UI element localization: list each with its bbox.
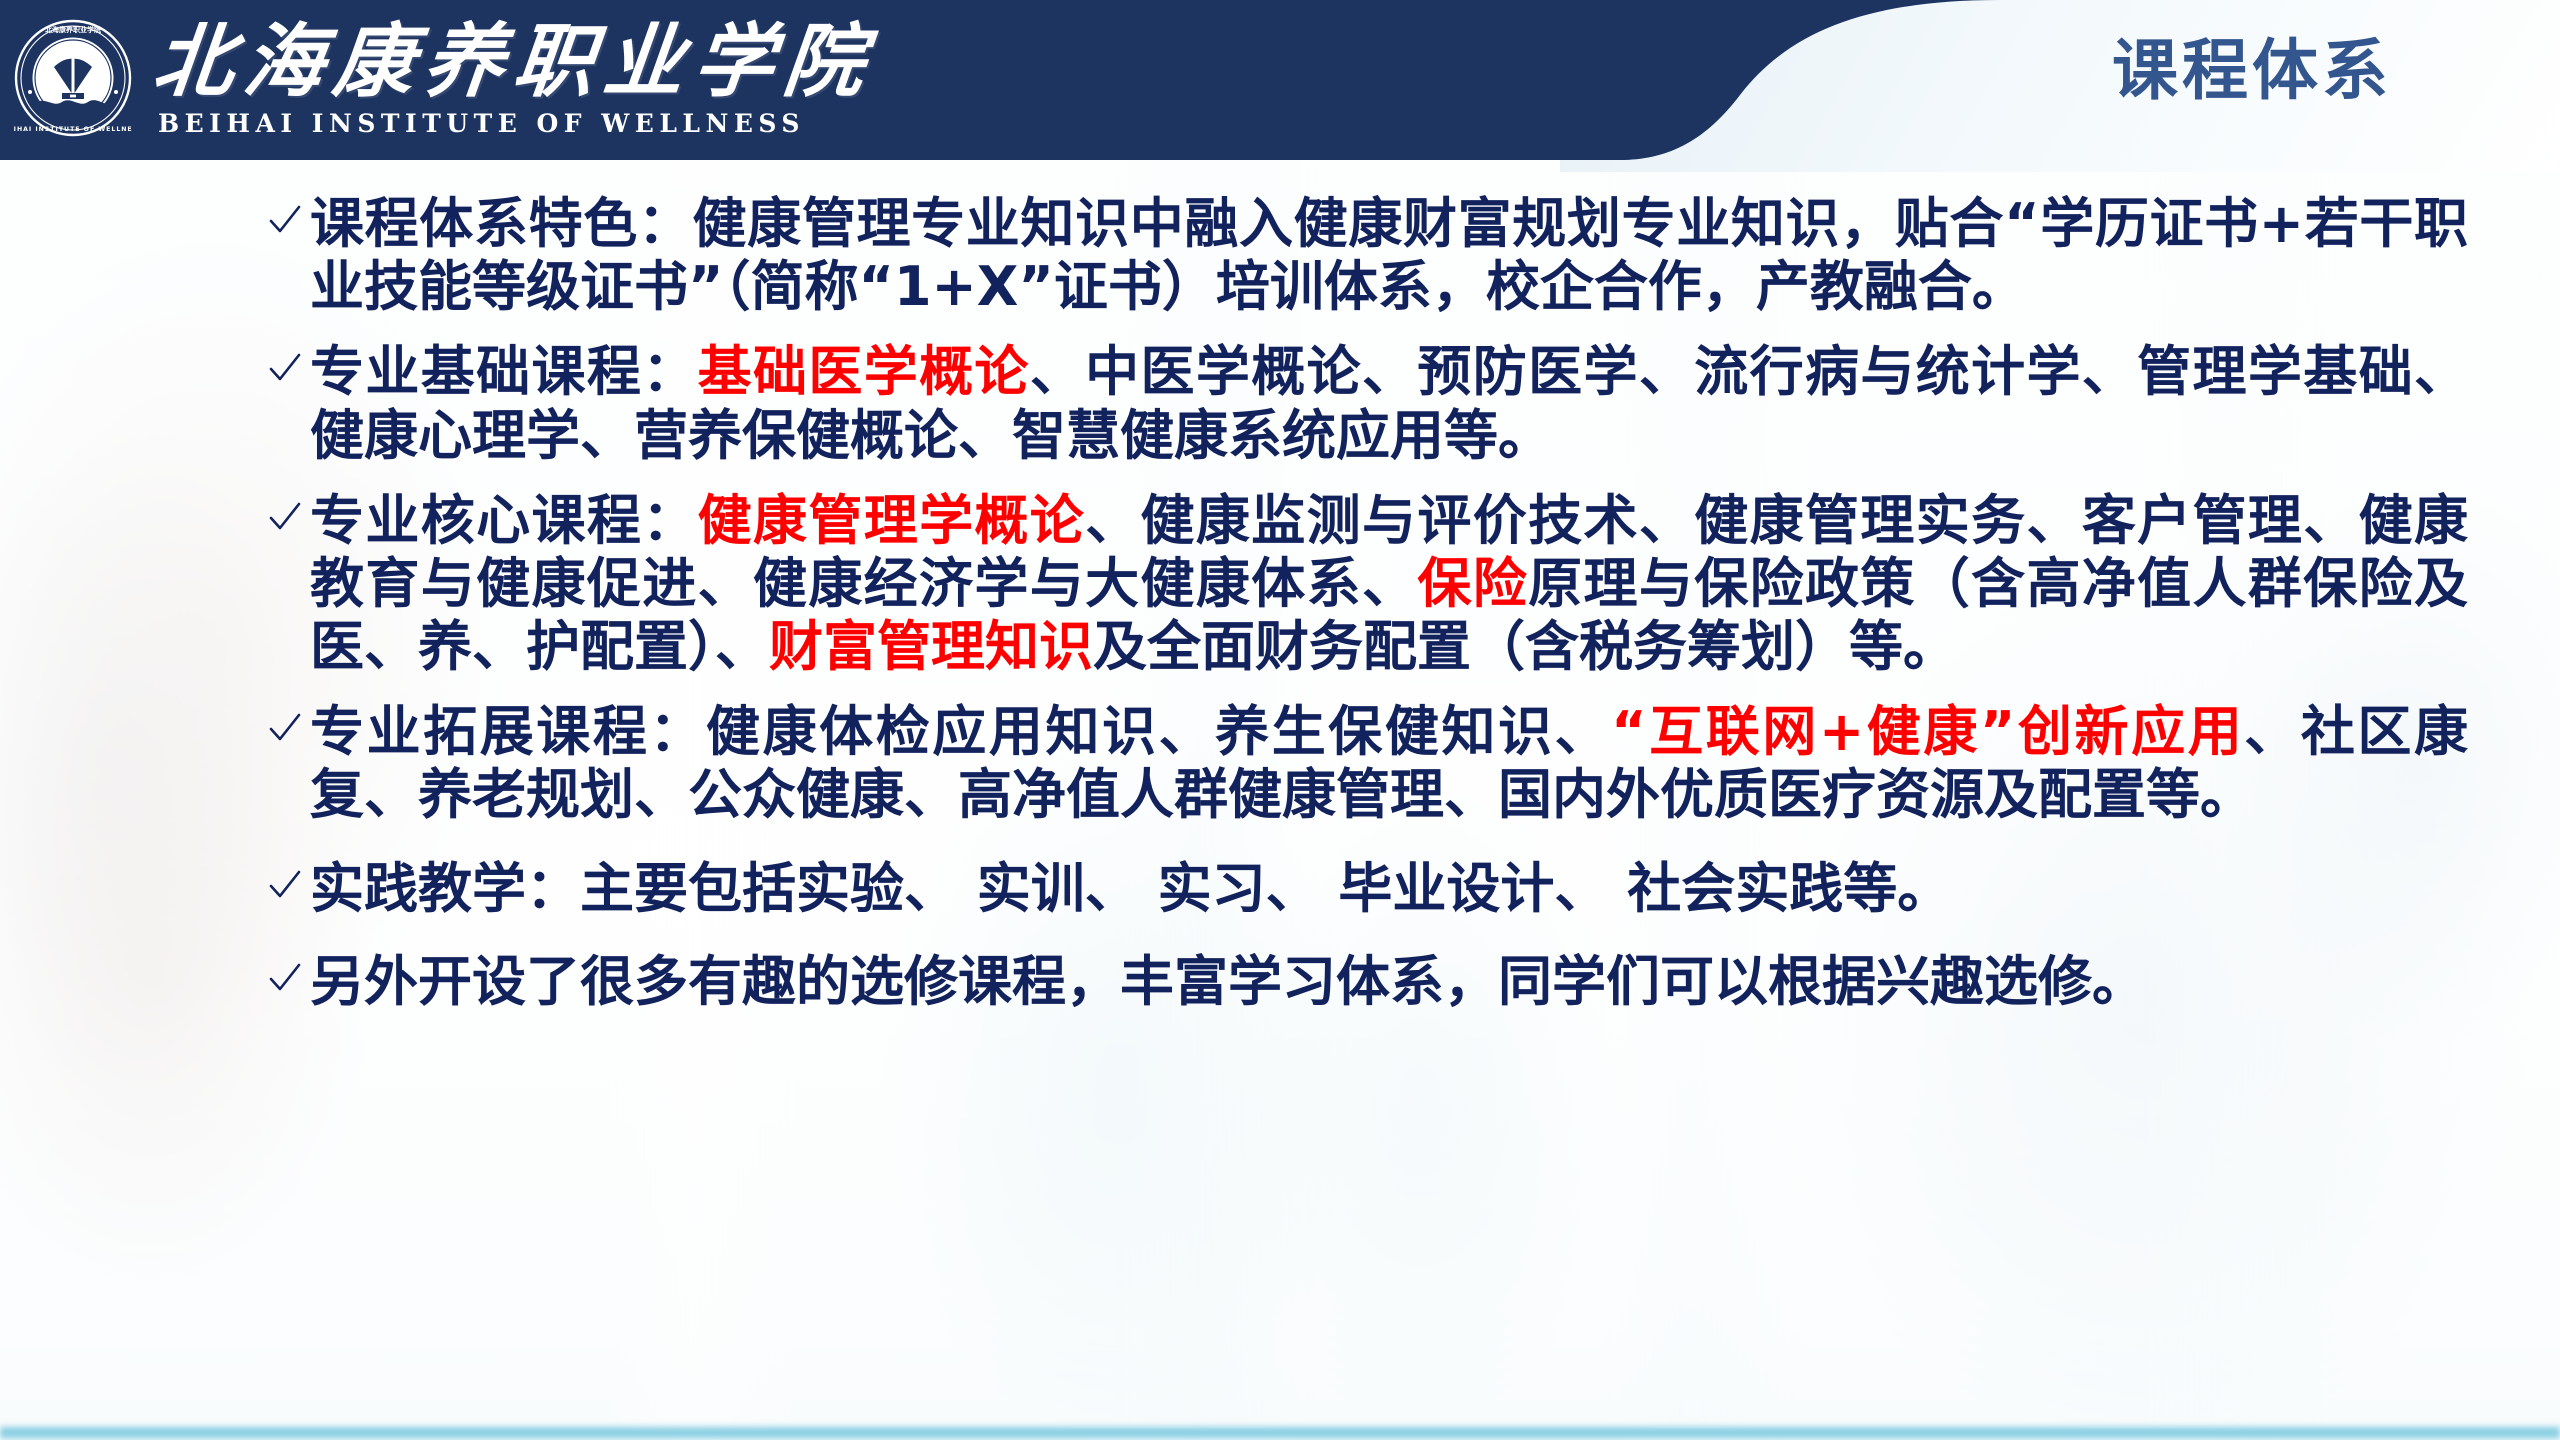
check-icon (268, 962, 310, 996)
bullet-professional-basic-courses: 专业基础课程：基础医学概论、中医学概论、预防医学、流行病与统计学、管理学基础、健… (268, 340, 2468, 466)
check-icon (268, 352, 310, 386)
svg-text:BEIHAI INSTITUTE OF WELLNESS: BEIHAI INSTITUTE OF WELLNESS (14, 126, 132, 133)
institution-name-en: BEIHAI INSTITUTE OF WELLNESS (158, 109, 874, 138)
bottom-accent-line (0, 1424, 2560, 1440)
bullet-text: 课程体系特色：健康管理专业知识中融入健康财富规划专业知识，贴合“学历证书+若干职… (310, 192, 2468, 318)
institution-name-cn: 北海康养职业学院 (150, 21, 878, 101)
bullet-text: 专业核心课程：健康管理学概论、健康监测与评价技术、健康管理实务、客户管理、健康教… (310, 489, 2468, 679)
bullet-text: 另外开设了很多有趣的选修课程，丰富学习体系，同学们可以根据兴趣选修。 (310, 950, 2468, 1013)
bullet-text: 专业拓展课程：健康体检应用知识、养生保健知识、“互联网+健康”创新应用、社区康复… (310, 700, 2468, 826)
plain-text: 专业拓展课程：健康体检应用知识、养生保健知识、 (310, 700, 1611, 763)
bullet-text: 实践教学：主要包括实验、 实训、 实习、 毕业设计、 社会实践等。 (310, 857, 2468, 920)
header: 北海康养职业学院 BEIHAI INSTITUTE OF WELLNESS 北海… (0, 0, 2560, 172)
check-icon (268, 501, 310, 535)
highlighted-text: “互联网+健康”创新应用 (1611, 700, 2244, 763)
plain-text: 实践教学：主要包括实验、 实训、 实习、 毕业设计、 社会实践等。 (310, 857, 1951, 920)
logo-block: 北海康养职业学院 BEIHAI INSTITUTE OF WELLNESS 北海… (14, 8, 874, 148)
highlighted-text: 基础医学概论 (698, 340, 1030, 403)
highlighted-text: 保险 (1417, 552, 1528, 615)
bullet-professional-extension-courses: 专业拓展课程：健康体检应用知识、养生保健知识、“互联网+健康”创新应用、社区康复… (268, 700, 2468, 826)
svg-text:北海康养职业学院: 北海康养职业学院 (45, 25, 101, 34)
bullet-elective-courses: 另外开设了很多有趣的选修课程，丰富学习体系，同学们可以根据兴趣选修。 (268, 950, 2468, 1013)
bullet-professional-core-courses: 专业核心课程：健康管理学概论、健康监测与评价技术、健康管理实务、客户管理、健康教… (268, 489, 2468, 679)
check-icon (268, 712, 310, 746)
slide: 北海康养职业学院 BEIHAI INSTITUTE OF WELLNESS 北海… (0, 0, 2560, 1440)
check-icon (268, 869, 310, 903)
highlighted-text: 健康管理学概论 (698, 489, 1086, 552)
bullet-text: 专业基础课程：基础医学概论、中医学概论、预防医学、流行病与统计学、管理学基础、健… (310, 340, 2468, 466)
plain-text: 另外开设了很多有趣的选修课程，丰富学习体系，同学们可以根据兴趣选修。 (310, 950, 2146, 1013)
bullet-curriculum-features: 课程体系特色：健康管理专业知识中融入健康财富规划专业知识，贴合“学历证书+若干职… (268, 192, 2468, 318)
wordmark: 北海康养职业学院 BEIHAI INSTITUTE OF WELLNESS (154, 19, 874, 138)
plain-text: 专业基础课程： (310, 340, 698, 403)
page-title: 课程体系 (2112, 38, 2392, 104)
institution-emblem-icon: 北海康养职业学院 BEIHAI INSTITUTE OF WELLNESS (14, 19, 132, 137)
bullet-practical-teaching: 实践教学：主要包括实验、 实训、 实习、 毕业设计、 社会实践等。 (268, 857, 2468, 920)
check-icon (268, 204, 310, 238)
plain-text: 专业核心课程： (310, 489, 698, 552)
plain-text: 及全面财务配置（含税务筹划）等。 (1093, 615, 1957, 678)
highlighted-text: 财富管理知识 (769, 615, 1093, 678)
plain-text: 课程体系特色：健康管理专业知识中融入健康财富规划专业知识，贴合“学历证书+若干职… (310, 192, 2468, 318)
content-body: 课程体系特色：健康管理专业知识中融入健康财富规划专业知识，贴合“学历证书+若干职… (0, 180, 2560, 1035)
